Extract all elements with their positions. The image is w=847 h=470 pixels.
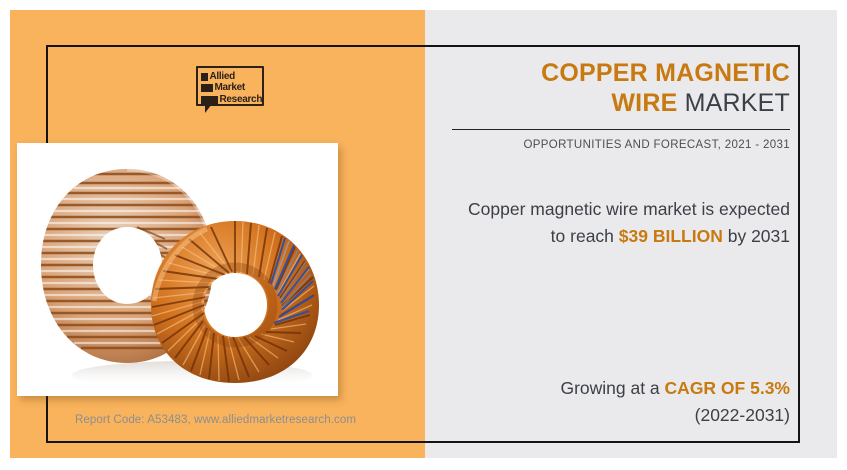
logo-row-market: Market	[201, 83, 263, 94]
logo-row-allied: Allied	[201, 71, 263, 82]
logo-word-allied: Allied	[210, 72, 235, 82]
page-subtitle: OPPORTUNITIES AND FORECAST, 2021 - 2031	[452, 139, 790, 151]
title-line1: COPPER MAGNETIC	[541, 59, 790, 87]
logo-word-market: Market	[215, 83, 245, 93]
infographic-canvas: Allied Market Research	[0, 0, 847, 470]
logo-word-research: Research	[220, 95, 263, 105]
header-block: COPPER MAGNETIC WIRE MARKET OPPORTUNITIE…	[452, 58, 790, 151]
title-line2-accent: WIRE	[611, 89, 677, 117]
speech-bubble-icon: Allied Market Research	[196, 66, 264, 106]
logo-row-research: Research	[201, 94, 263, 105]
cagr-period: (2022-2031)	[695, 405, 790, 425]
logo-bar-icon-1	[201, 73, 208, 81]
market-value-statement: Copper magnetic wire market is expected …	[452, 196, 790, 250]
cagr-lead: Growing at a	[560, 378, 659, 398]
copper-coils-image	[17, 143, 338, 396]
logo-bar-icon-2	[201, 84, 213, 92]
logo-bar-icon-3	[201, 96, 218, 104]
product-photo-card	[17, 143, 338, 396]
logo-text-rows: Allied Market Research	[201, 71, 263, 106]
report-code-credit: Report Code: A53483, www.alliedmarketres…	[75, 414, 356, 426]
cagr-statement: Growing at a CAGR OF 5.3% (2022-2031)	[452, 375, 790, 429]
statement-trail: by 2031	[728, 226, 790, 246]
allied-market-research-logo: Allied Market Research	[196, 66, 266, 116]
cagr-value: CAGR OF 5.3%	[665, 378, 790, 398]
title-line2-plain: MARKET	[685, 89, 790, 117]
page-title: COPPER MAGNETIC WIRE MARKET	[452, 58, 790, 118]
statement-value: $39 BILLION	[619, 226, 723, 246]
title-divider	[452, 129, 790, 130]
